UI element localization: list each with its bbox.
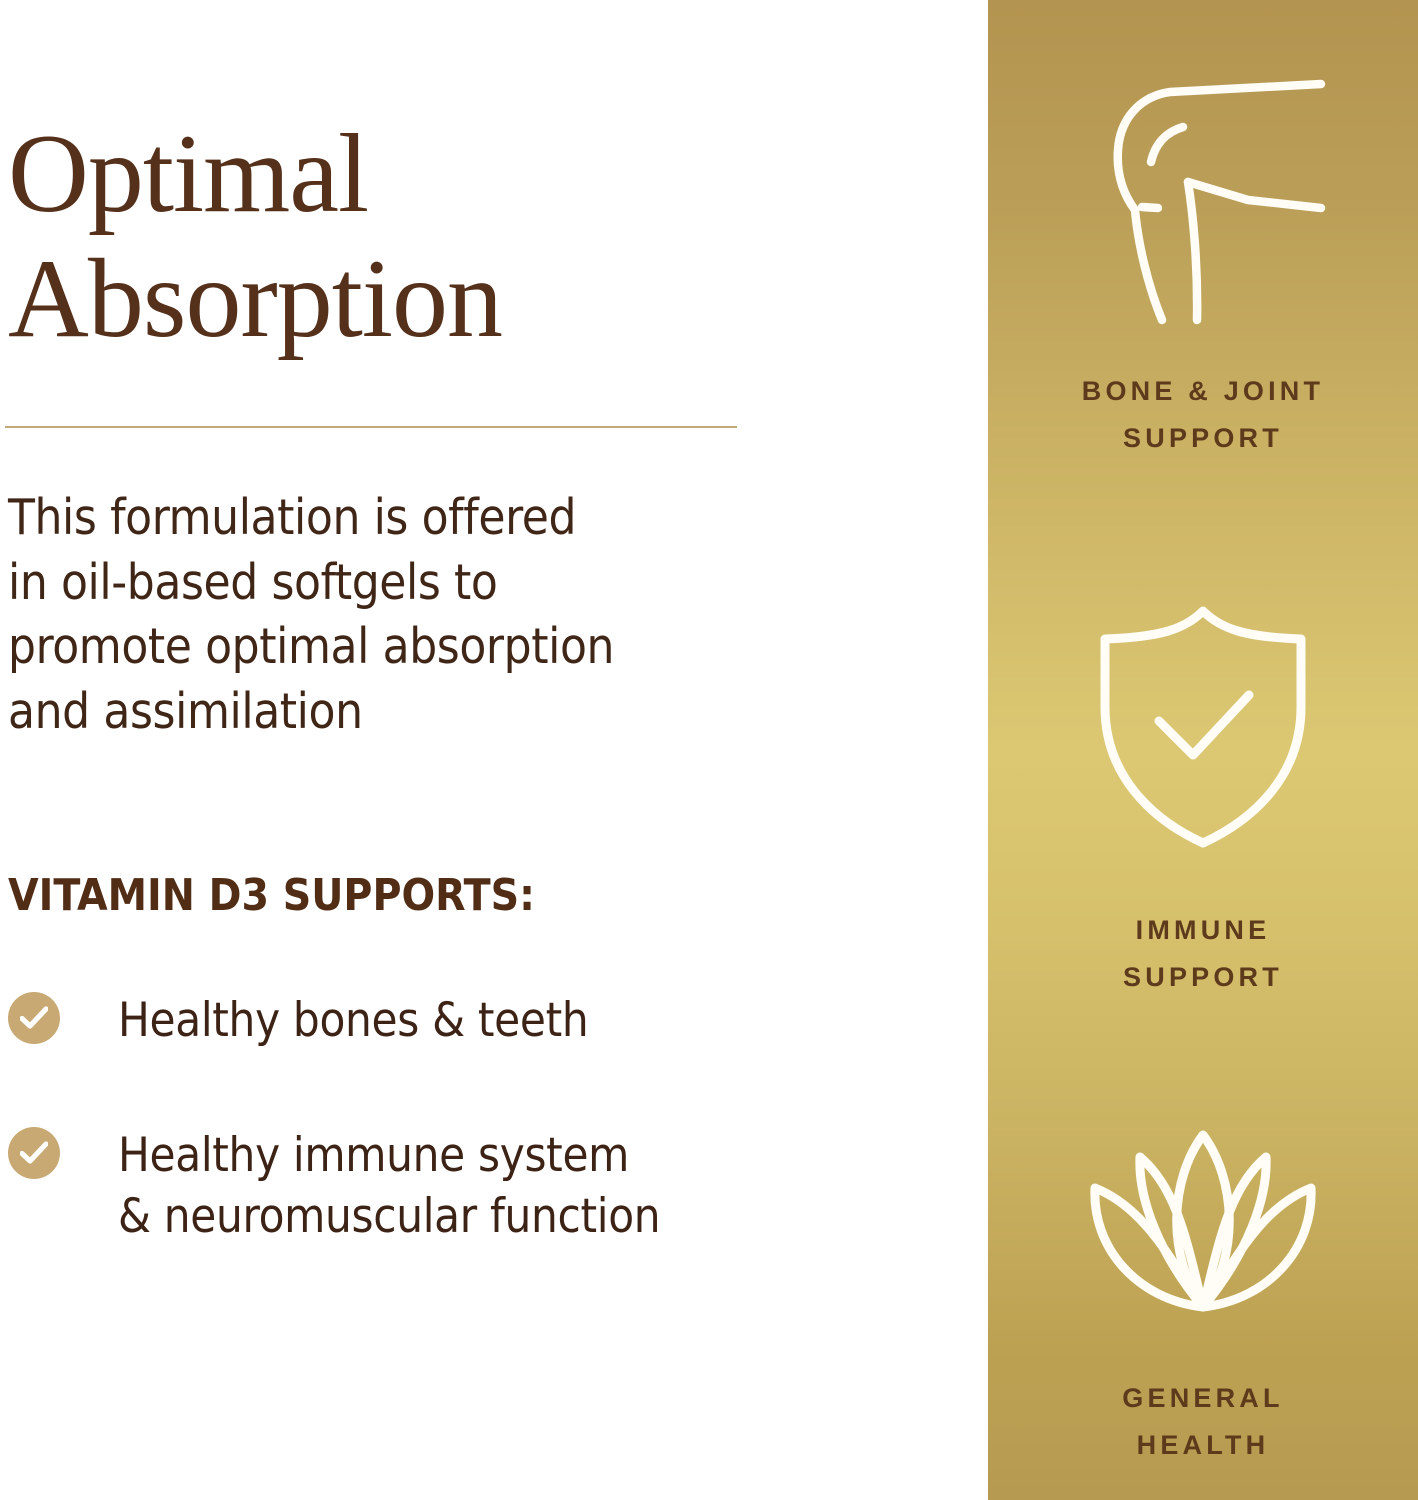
benefit-label: BONE & JOINT SUPPORT (1082, 368, 1324, 463)
list-item-text-line-1: Healthy immune system (118, 1125, 660, 1186)
benefit-bone-joint: BONE & JOINT SUPPORT (988, 74, 1418, 463)
list-item-text: Healthy immune system & neuromuscular fu… (118, 1125, 660, 1247)
page-title-line-1: Optimal (8, 112, 948, 237)
supports-heading: VITAMIN D3 SUPPORTS: (8, 872, 535, 920)
left-content-column: Optimal Absorption This formulation is o… (0, 0, 988, 1500)
list-item-text-line-2: & neuromuscular function (118, 1186, 660, 1247)
horizontal-divider (5, 426, 737, 428)
list-item-text-line-1: Healthy bones & teeth (118, 990, 588, 1051)
list-item-text: Healthy bones & teeth (118, 990, 588, 1051)
benefit-label-line-1: IMMUNE (1123, 907, 1283, 954)
intro-paragraph: This formulation is offered in oil-based… (8, 486, 848, 745)
lotus-flower-icon (1078, 1127, 1328, 1317)
benefit-general-health: GENERAL HEALTH (988, 1127, 1418, 1470)
intro-line-1: This formulation is offered (8, 486, 848, 551)
check-circle-icon (8, 1127, 60, 1179)
benefit-label-line-1: BONE & JOINT (1082, 368, 1324, 415)
knee-joint-icon (1078, 74, 1328, 326)
check-circle-icon (8, 992, 60, 1044)
benefits-panel: BONE & JOINT SUPPORT IMMUNE SUPPORT (988, 0, 1418, 1500)
intro-line-3: promote optimal absorption (8, 615, 848, 680)
benefit-label-line-1: GENERAL (1122, 1375, 1283, 1422)
list-item: Healthy bones & teeth (8, 990, 868, 1051)
marketing-infographic: Optimal Absorption This formulation is o… (0, 0, 1418, 1500)
list-item: Healthy immune system & neuromuscular fu… (8, 1125, 868, 1247)
benefit-label: IMMUNE SUPPORT (1123, 907, 1283, 1002)
benefit-label-line-2: SUPPORT (1082, 415, 1324, 462)
page-title: Optimal Absorption (8, 0, 948, 363)
shield-check-icon (1093, 603, 1313, 851)
supports-list: Healthy bones & teeth Healthy immune sys… (8, 990, 868, 1247)
benefit-label-line-2: SUPPORT (1123, 954, 1283, 1001)
intro-line-2: in oil-based softgels to (8, 551, 848, 616)
benefit-label-line-2: HEALTH (1122, 1422, 1283, 1469)
benefit-label: GENERAL HEALTH (1122, 1375, 1283, 1470)
intro-line-4: and assimilation (8, 680, 848, 745)
benefit-immune: IMMUNE SUPPORT (988, 603, 1418, 1002)
page-title-line-2: Absorption (8, 237, 948, 362)
